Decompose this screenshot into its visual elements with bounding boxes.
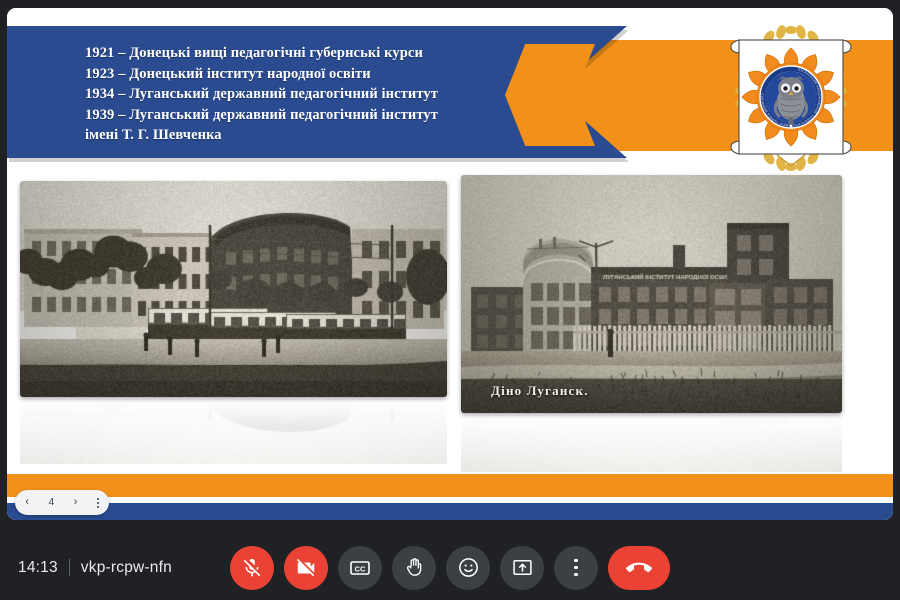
university-emblem: ЛУГАНСЬКИЙ НАЦІОНАЛЬНИЙ УНІВЕРСИТЕТ ІМЕН… [717,24,865,172]
presentation-tile[interactable]: 1921 – Донецькі вищі педагогічні губернс… [7,8,893,520]
meeting-stage: 1921 – Донецькі вищі педагогічні губернс… [0,0,900,535]
historic-photo-institute-building-reflection [461,414,842,472]
slide-heading-line: імені Т. Г. Шевченка [85,125,515,146]
emoji-smile-icon [457,556,480,579]
reactions-button[interactable] [446,546,490,590]
raised-hand-icon [403,556,426,579]
video-off-icon [295,557,317,579]
meta-divider [69,559,70,576]
raise-hand-button[interactable] [392,546,436,590]
slide-heading-list: 1921 – Донецькі вищі педагогічні губернс… [85,43,515,146]
svg-text:CC: CC [355,564,366,573]
slide-canvas[interactable]: 1921 – Донецькі вищі педагогічні губернс… [7,8,893,520]
mic-off-icon [241,557,263,579]
meeting-meta: 14:13 vkp-rcpw-nfn [18,535,172,600]
captions-button[interactable]: CC [338,546,382,590]
footer-blue-bar [7,503,893,520]
present-to-all-icon [511,556,534,579]
footer-orange-bar [7,474,893,497]
closed-captions-icon: CC [348,556,372,580]
historic-photo-institute-building[interactable]: Діно Луганск. [461,175,842,413]
camera-off-button[interactable] [284,546,328,590]
slide-number-label[interactable]: 4 [42,493,61,512]
present-screen-button[interactable] [500,546,544,590]
historic-photo-tram-street-reflection [20,398,447,464]
clock-label: 14:13 [18,559,58,577]
previous-slide-button[interactable]: ‹ [18,493,37,512]
call-controls: CC [230,535,670,600]
slide-heading-line: 1934 – Луганський державний педагогічний… [85,84,515,105]
slide-navigation-pill[interactable]: ‹ 4 › [15,490,109,515]
slide-heading-line: 1939 – Луганський державний педагогічний… [85,105,515,126]
chevron-decoration [505,44,615,146]
next-slide-button[interactable]: › [66,493,85,512]
historic-photo-tram-street[interactable] [20,181,447,397]
meeting-code-label[interactable]: vkp-rcpw-nfn [81,559,172,577]
slide-heading-line: 1923 – Донецький інститут народної освіт… [85,64,515,85]
meet-control-bar: 14:13 vkp-rcpw-nfn CC [0,535,900,600]
hang-up-icon [626,555,652,581]
end-call-button[interactable] [608,546,670,590]
vertical-dots-icon [574,559,578,577]
slide-options-icon[interactable] [90,498,106,508]
slide-heading-line: 1921 – Донецькі вищі педагогічні губернс… [85,43,515,64]
more-options-button[interactable] [554,546,598,590]
microphone-off-button[interactable] [230,546,274,590]
